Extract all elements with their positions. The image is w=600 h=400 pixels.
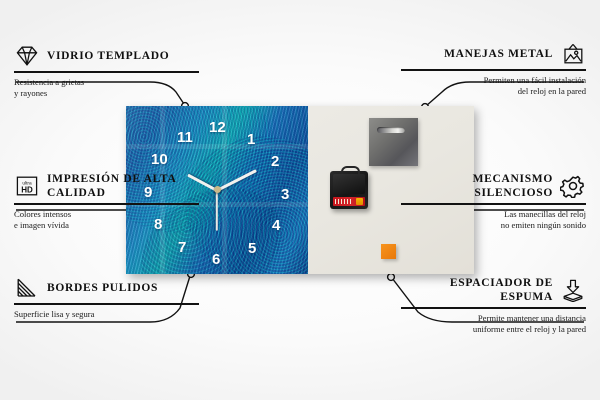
callout-title: BORDES PULIDOS [47,281,158,295]
ultra-hd-icon: ultra HD [14,174,40,198]
callout-description: Resistencia a grietas y rayones [14,77,199,100]
callout-title: VIDRIO TEMPLADO [47,49,169,63]
polished-edges-icon [14,276,40,300]
clock-numeral-10: 10 [151,152,168,167]
clock-center-cap [214,186,221,193]
hanger-slot [377,127,405,133]
callout-espaciador-espuma: ESPACIADOR DE ESPUMA Permite mantener un… [401,276,586,336]
metal-hanger-plate [369,118,418,166]
battery-icon [356,198,363,205]
clock-mechanism [330,171,368,209]
clock-numeral-12: 12 [209,120,226,135]
clock-numeral-2: 2 [271,154,279,169]
callout-divider [401,69,586,71]
callout-divider [14,303,199,305]
callout-description: Superficie lisa y segura [14,309,199,321]
callout-description: Las manecillas del reloj no emiten ningú… [501,209,586,232]
arrow-down-pad-icon [560,278,586,302]
callout-description: Permiten una fácil instalación del reloj… [484,75,586,98]
connector-dot-espaciador [388,274,395,281]
callout-mecanismo-silencioso: MECANISMO SILENCIOSO Las manecillas del … [401,172,586,232]
clock-numeral-6: 6 [212,252,220,267]
callout-title: ESPACIADOR DE ESPUMA [401,276,553,304]
mechanism-label [333,197,365,206]
clock-numeral-4: 4 [272,218,280,233]
callout-divider [401,203,586,205]
clock-numeral-3: 3 [281,187,289,202]
callout-divider [401,307,586,309]
callout-divider [14,203,199,205]
callout-vidrio-templado: VIDRIO TEMPLADO Resistencia a grietas y … [14,44,199,100]
label-text-lines [335,199,353,204]
callout-divider [14,71,199,73]
callout-manejas-metal: MANEJAS METAL Permiten una fácil instala… [401,42,586,98]
mechanism-body [333,174,365,194]
clock-numeral-1: 1 [247,132,255,147]
foam-spacer [381,244,396,259]
diamond-icon [14,44,40,68]
svg-text:HD: HD [21,185,33,194]
callout-title: IMPRESIÓN DE ALTA CALIDAD [47,172,199,200]
clock-numeral-7: 7 [178,240,186,255]
print-grid-line [126,144,308,149]
callout-description: Permite mantener una distancia uniforme … [473,313,586,336]
callout-title: MANEJAS METAL [444,47,553,61]
gear-icon [560,174,586,198]
clock-numeral-11: 11 [177,130,193,145]
callout-impresion-alta-calidad: ultra HD IMPRESIÓN DE ALTA CALIDAD Color… [14,172,199,232]
callout-description: Colores intensos e imagen vívida [14,209,199,232]
picture-frame-hanging-icon [560,42,586,66]
infographic-canvas: 12 1 2 3 4 5 6 7 8 9 10 11 [0,0,600,400]
callout-bordes-pulidos: BORDES PULIDOS Superficie lisa y segura [14,276,199,320]
clock-second-hand [216,190,218,231]
callout-title: MECANISMO SILENCIOSO [401,172,553,200]
clock-numeral-5: 5 [248,241,256,256]
